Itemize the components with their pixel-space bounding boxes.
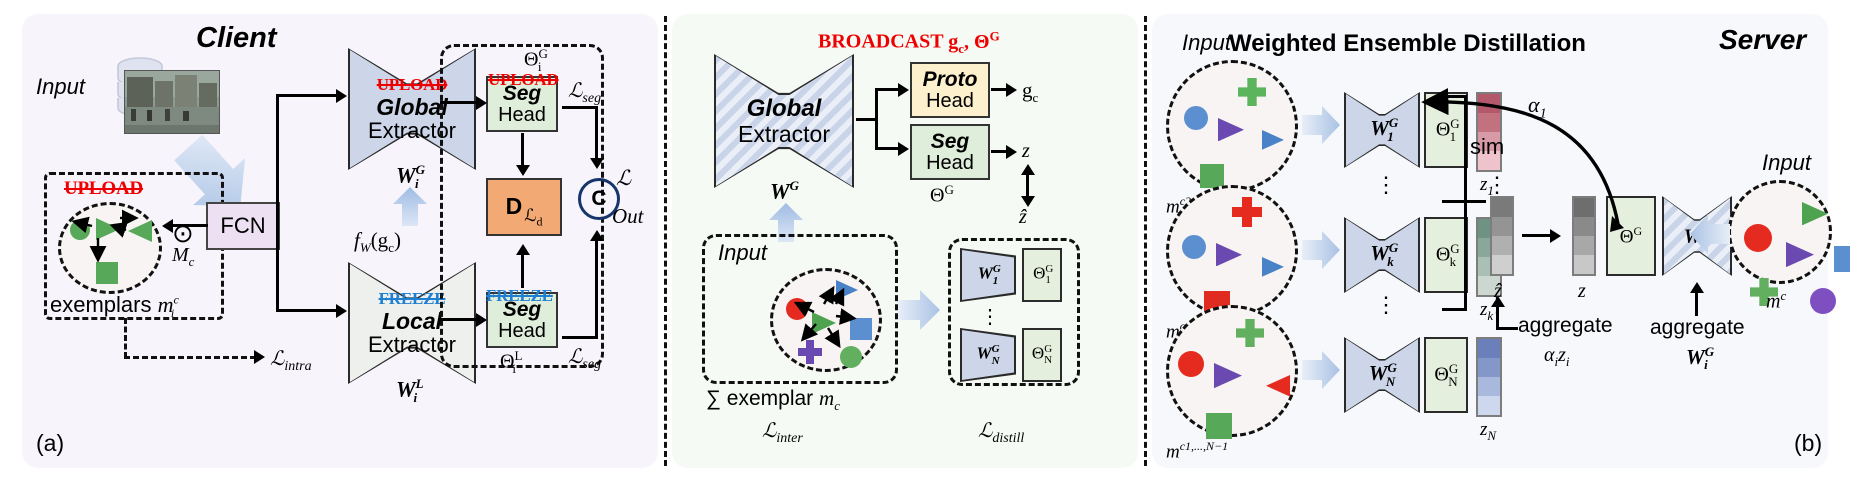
- server-row-shape-cross: [1238, 78, 1266, 111]
- server-input-shape-tri-right: [1786, 242, 1814, 272]
- client-input-label: Input: [36, 74, 85, 100]
- middle-global-title: Global: [747, 96, 822, 121]
- arrow-to-local-head: [336, 304, 347, 318]
- exemplar-relation-arrows: [58, 202, 162, 294]
- server-row-shape-tri-right: [1262, 130, 1284, 155]
- middle-global-weights: WG: [770, 178, 799, 204]
- divider-client-middle: [664, 16, 667, 466]
- middle-exemplar-caption: ∑ exemplar mc: [706, 386, 840, 414]
- middle-branch-bar: [875, 88, 878, 150]
- z-zhat-up-head: [1021, 164, 1035, 175]
- server-memory-label: mc: [1766, 288, 1786, 314]
- local-extractor-weights: WLi: [396, 376, 417, 406]
- middle-relation-arrows: [770, 268, 882, 372]
- student-1-weights: WG1: [978, 263, 999, 286]
- aggregate-weights-arrow-head: [1690, 282, 1704, 293]
- arrow-to-global-extractor: [276, 94, 338, 97]
- arrow-localseg-to-d-head: [516, 244, 530, 255]
- sim-label: sim: [1470, 134, 1504, 160]
- arrow-global-to-seghead: [440, 101, 480, 104]
- loss-seg-top-line-h: [562, 106, 598, 109]
- server-row-extractor: WGk: [1344, 217, 1420, 293]
- server-input-shape-circle: [1810, 288, 1836, 319]
- total-loss-out-label: Out: [612, 204, 644, 229]
- panel-a-label: (a): [36, 430, 64, 457]
- aggregate-logits-line-h: [1496, 327, 1518, 330]
- arrow-local-to-seghead-head: [476, 313, 487, 327]
- server-row-shape-tri-right: [1218, 118, 1244, 146]
- mask-label: Mc: [172, 244, 194, 270]
- server-row-shape-circle: [1182, 235, 1206, 264]
- server-row-z-label: zN: [1480, 419, 1496, 444]
- aggregate-logits-formula: αizi: [1544, 344, 1570, 370]
- loss-seg-top-label: ℒseg: [568, 78, 601, 107]
- intra-loss-arrow-head: [254, 350, 265, 364]
- proto-head-title: Proto: [923, 69, 978, 90]
- fcn-bus-line: [276, 94, 279, 312]
- row-ellipsis: ⋮: [1375, 292, 1397, 318]
- exemplars-caption-text: exemplars: [50, 292, 151, 317]
- arrow-fcn-to-mask: [168, 224, 208, 227]
- middle-branch-bottom-head: [898, 142, 909, 156]
- middle-theta-global-label: ΘG: [930, 182, 954, 208]
- seg-head-global-upload-tag: UPLOAD: [488, 70, 559, 90]
- server-row-input-arrow: [1302, 104, 1340, 146]
- server-row-shape-cross: [1232, 197, 1262, 232]
- weight-update-arrow: [390, 186, 430, 226]
- z-collect-brace-bot: [1442, 308, 1466, 311]
- seg-head-local-sub: Head: [498, 321, 546, 341]
- alpha-label: α1: [1528, 92, 1547, 122]
- d-box-label: D: [506, 195, 523, 218]
- student-n-theta: ΘGN: [1022, 328, 1062, 382]
- local-extractor-title: Local: [382, 309, 442, 333]
- proto-output-label: gc: [1022, 78, 1038, 106]
- global-extractor-title: Global: [376, 95, 448, 119]
- loss-seg-bottom-arrow-head: [590, 230, 604, 241]
- ensemble-title: Weighted Ensemble Distillation: [1229, 30, 1586, 58]
- aggregate-weights-label: aggregate: [1650, 316, 1745, 340]
- server-row-shape-circle: [1184, 106, 1208, 135]
- divider-middle-server: [1144, 16, 1147, 466]
- client-title: Client: [196, 22, 277, 55]
- loss-inter-label: ℒinter: [762, 418, 803, 447]
- aggregate-logits-arrow-head: [1491, 296, 1505, 307]
- server-title: Server: [1719, 24, 1806, 56]
- arrow-local-to-seghead: [440, 318, 480, 321]
- server-row-extractor: WGN: [1344, 337, 1420, 413]
- broadcast-tag: BROADCAST gc, ΘG: [818, 28, 1000, 57]
- panel-b-label: (b): [1794, 430, 1822, 457]
- loss-seg-top-arrow-head: [590, 158, 604, 169]
- arrow-to-local-extractor: [276, 309, 338, 312]
- loss-seg-bottom-line-v: [595, 240, 598, 338]
- seg-head-global-sub: Head: [498, 105, 546, 125]
- proto-head-sub: Head: [926, 91, 974, 111]
- server-row-shape-tri-right: [1216, 243, 1242, 271]
- exemplars-upload-tag: UPLOAD: [64, 178, 143, 200]
- exemplars-caption: exemplars mci: [50, 292, 174, 321]
- row-ellipsis: ⋮: [1375, 172, 1397, 198]
- seg-output-z-label: z: [1022, 140, 1030, 163]
- fcn-label: FCN: [220, 215, 265, 237]
- discrepancy-box: D ℒd: [486, 178, 562, 236]
- arrow-fcn-to-mask-head: [162, 219, 173, 233]
- fcn-box: FCN: [206, 202, 280, 250]
- total-loss-label: ℒ: [616, 166, 631, 191]
- middle-global-subtitle: Extractor: [738, 122, 830, 146]
- theta-local-label: ΘLi: [500, 348, 516, 377]
- intra-loss-line-v: [124, 318, 129, 358]
- similarity-arc-down: [1412, 56, 1630, 246]
- global-extractor-upload-tag: UPLOAD: [377, 76, 448, 94]
- server-input-shape-tri-right: [1802, 202, 1828, 230]
- intra-loss-line-h: [124, 356, 256, 359]
- server-row-shape-circle: [1178, 351, 1204, 382]
- server-input-label: Input: [1762, 150, 1811, 176]
- aggregate-logits-label: aggregate: [1518, 314, 1613, 338]
- z-label: z: [1578, 280, 1586, 303]
- loss-distill-label: ℒdistill: [978, 418, 1024, 447]
- middle-seg-head-box: Seg Head: [910, 124, 990, 180]
- arrow-to-global-head: [336, 89, 347, 103]
- loss-seg-top-line-v: [595, 106, 598, 162]
- server-row-shape-tri-left: [1266, 375, 1290, 402]
- arrow-proto-out-head: [1006, 83, 1017, 97]
- figure-root: Client (a) Input: [0, 0, 1850, 482]
- server-row-logit-strip: [1476, 337, 1502, 417]
- middle-to-students-arrow: [898, 288, 940, 332]
- server-input-shape-square: [1834, 246, 1850, 277]
- middle-global-extractor: Global Extractor: [714, 54, 854, 188]
- student-n-weights: WGN: [976, 343, 999, 366]
- arrow-seghead-to-d-head: [516, 165, 530, 176]
- server-input-shape-circle: [1744, 224, 1772, 257]
- aggregate-weights-line: [1695, 290, 1698, 316]
- server-row-shape-tri-right: [1262, 257, 1284, 282]
- server-row-extractor: WG1: [1344, 92, 1420, 168]
- student-1-theta: ΘG1: [1022, 248, 1062, 302]
- server-row-shape-cross: [1236, 319, 1264, 352]
- middle-branch-top-head: [898, 83, 909, 97]
- middle-seg-head-title: Seg: [931, 131, 970, 152]
- middle-input-label: Input: [718, 240, 767, 266]
- loss-intra-label: ℒintra: [270, 346, 312, 375]
- arrow-localseg-to-d: [521, 254, 524, 288]
- server-row-theta: ΘGN: [1424, 337, 1468, 413]
- server-row-shape-tri-right: [1214, 363, 1242, 393]
- student-n-extractor: WGN: [960, 328, 1016, 382]
- seg-head-local-freeze-tag: FREEZE: [486, 286, 553, 306]
- student-1-extractor: WG1: [960, 248, 1016, 302]
- server-rows-input-label: Input: [1182, 30, 1231, 56]
- server-row-input-arrow: [1302, 229, 1340, 271]
- server-input-arrow: [1690, 212, 1730, 256]
- student-ellipsis: ⋮: [980, 304, 1002, 329]
- aggregate-weights-formula: WGi: [1686, 344, 1708, 373]
- loss-seg-bottom-line-h: [562, 336, 598, 339]
- d-box-sub: ℒd: [524, 207, 542, 228]
- middle-seg-head-sub: Head: [926, 153, 974, 173]
- proto-head-box: Proto Head: [910, 62, 990, 118]
- server-row-memory-label: mc1,...,N−1: [1166, 439, 1228, 463]
- arrow-seg-out-head: [1006, 145, 1017, 159]
- arrow-seghead-to-d: [521, 133, 524, 167]
- loss-seg-bottom-label: ℒseg: [568, 344, 601, 373]
- exemplars-symbol: mci: [158, 292, 175, 317]
- server-row-input-arrow: [1302, 349, 1340, 391]
- fw-gc-label: fW(gc): [354, 228, 401, 256]
- arrow-global-to-seghead-head: [476, 96, 487, 110]
- seg-output-zhat-label: ẑ: [1019, 206, 1027, 229]
- local-extractor-freeze-tag: FREEZE: [379, 290, 446, 308]
